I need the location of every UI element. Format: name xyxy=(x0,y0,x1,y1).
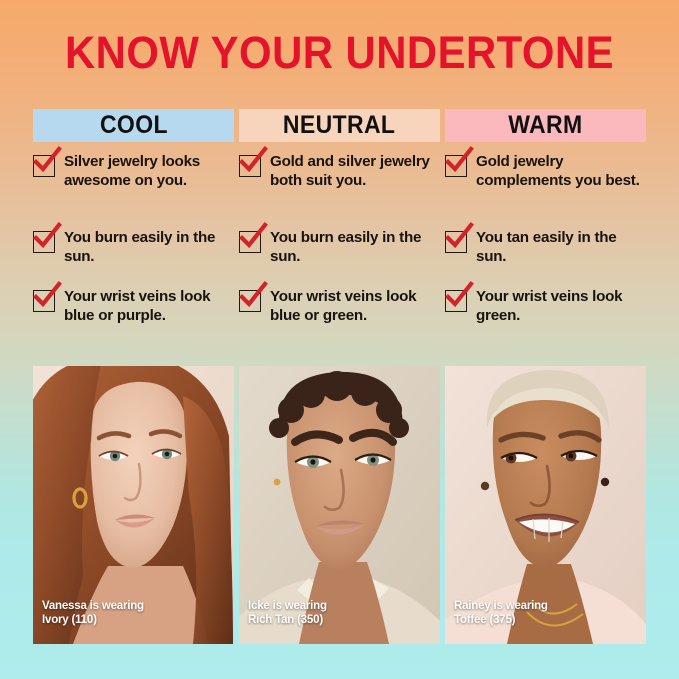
column-header-neutral-label: NEUTRAL xyxy=(283,111,395,140)
checklist-item-label: You burn easily in the sun. xyxy=(270,228,440,266)
photo-caption-icke: Icke is wearing Rich Tan (350) xyxy=(248,600,327,627)
model-photo-icke: Icke is wearing Rich Tan (350) xyxy=(239,366,440,644)
checklist-item: Gold and silver jewelry both suit you. xyxy=(239,152,440,228)
photo-caption-line1: Icke is wearing xyxy=(248,600,327,614)
column-header-cool-label: COOL xyxy=(100,111,168,140)
checklist-item: Your wrist veins look green. xyxy=(445,287,646,346)
checklist-item: Silver jewelry looks awesome on you. xyxy=(33,152,234,228)
checklist-item: You burn easily in the sun. xyxy=(33,228,234,287)
photo-caption-rainey: Rainey is wearing Toffee (375) xyxy=(454,600,548,627)
checklist-item-label: Your wrist veins look blue or purple. xyxy=(64,287,234,325)
photo-caption-line1: Vanessa is wearing xyxy=(42,600,144,614)
model-photo-rainey: Rainey is wearing Toffee (375) xyxy=(445,366,646,644)
checklist-item-label: Your wrist veins look blue or green. xyxy=(270,287,440,325)
photo-caption-line2: Ivory (110) xyxy=(42,614,144,628)
column-header-warm: WARM xyxy=(445,109,646,142)
undertone-infographic: KNOW YOUR UNDERTONE COOL NEUTRAL WARM Si… xyxy=(0,0,679,679)
checklist-grid: Silver jewelry looks awesome on you. Gol… xyxy=(33,152,646,346)
checkbox-checked-icon[interactable] xyxy=(33,290,55,312)
checkbox-checked-icon[interactable] xyxy=(445,155,467,177)
checklist-item-label: You tan easily in the sun. xyxy=(476,228,646,266)
checklist-item: Your wrist veins look blue or purple. xyxy=(33,287,234,346)
checklist-item-label: Gold and silver jewelry both suit you. xyxy=(270,152,440,190)
checklist-item-label: Silver jewelry looks awesome on you. xyxy=(64,152,234,190)
column-header-neutral: NEUTRAL xyxy=(239,109,440,142)
checkbox-checked-icon[interactable] xyxy=(33,231,55,253)
checkbox-checked-icon[interactable] xyxy=(445,290,467,312)
checkbox-checked-icon[interactable] xyxy=(33,155,55,177)
checklist-item: Gold jewelry complements you best. xyxy=(445,152,646,228)
checklist-item: You burn easily in the sun. xyxy=(239,228,440,287)
checklist-item-label: Your wrist veins look green. xyxy=(476,287,646,325)
column-header-row: COOL NEUTRAL WARM xyxy=(33,109,646,142)
checkbox-checked-icon[interactable] xyxy=(239,290,261,312)
checklist-item: Your wrist veins look blue or green. xyxy=(239,287,440,346)
checkbox-checked-icon[interactable] xyxy=(445,231,467,253)
checklist-item-label: Gold jewelry complements you best. xyxy=(476,152,646,190)
checkbox-checked-icon[interactable] xyxy=(239,231,261,253)
photo-caption-line2: Rich Tan (350) xyxy=(248,614,327,628)
page-title: KNOW YOUR UNDERTONE xyxy=(24,28,655,78)
checklist-item: You tan easily in the sun. xyxy=(445,228,646,287)
photo-caption-line1: Rainey is wearing xyxy=(454,600,548,614)
checklist-item-label: You burn easily in the sun. xyxy=(64,228,234,266)
photo-caption-vanessa: Vanessa is wearing Ivory (110) xyxy=(42,600,144,627)
checkbox-checked-icon[interactable] xyxy=(239,155,261,177)
model-photo-row: Vanessa is wearing Ivory (110) xyxy=(33,366,646,644)
column-header-warm-label: WARM xyxy=(508,111,582,140)
model-photo-vanessa: Vanessa is wearing Ivory (110) xyxy=(33,366,234,644)
column-header-cool: COOL xyxy=(33,109,234,142)
photo-caption-line2: Toffee (375) xyxy=(454,614,548,628)
